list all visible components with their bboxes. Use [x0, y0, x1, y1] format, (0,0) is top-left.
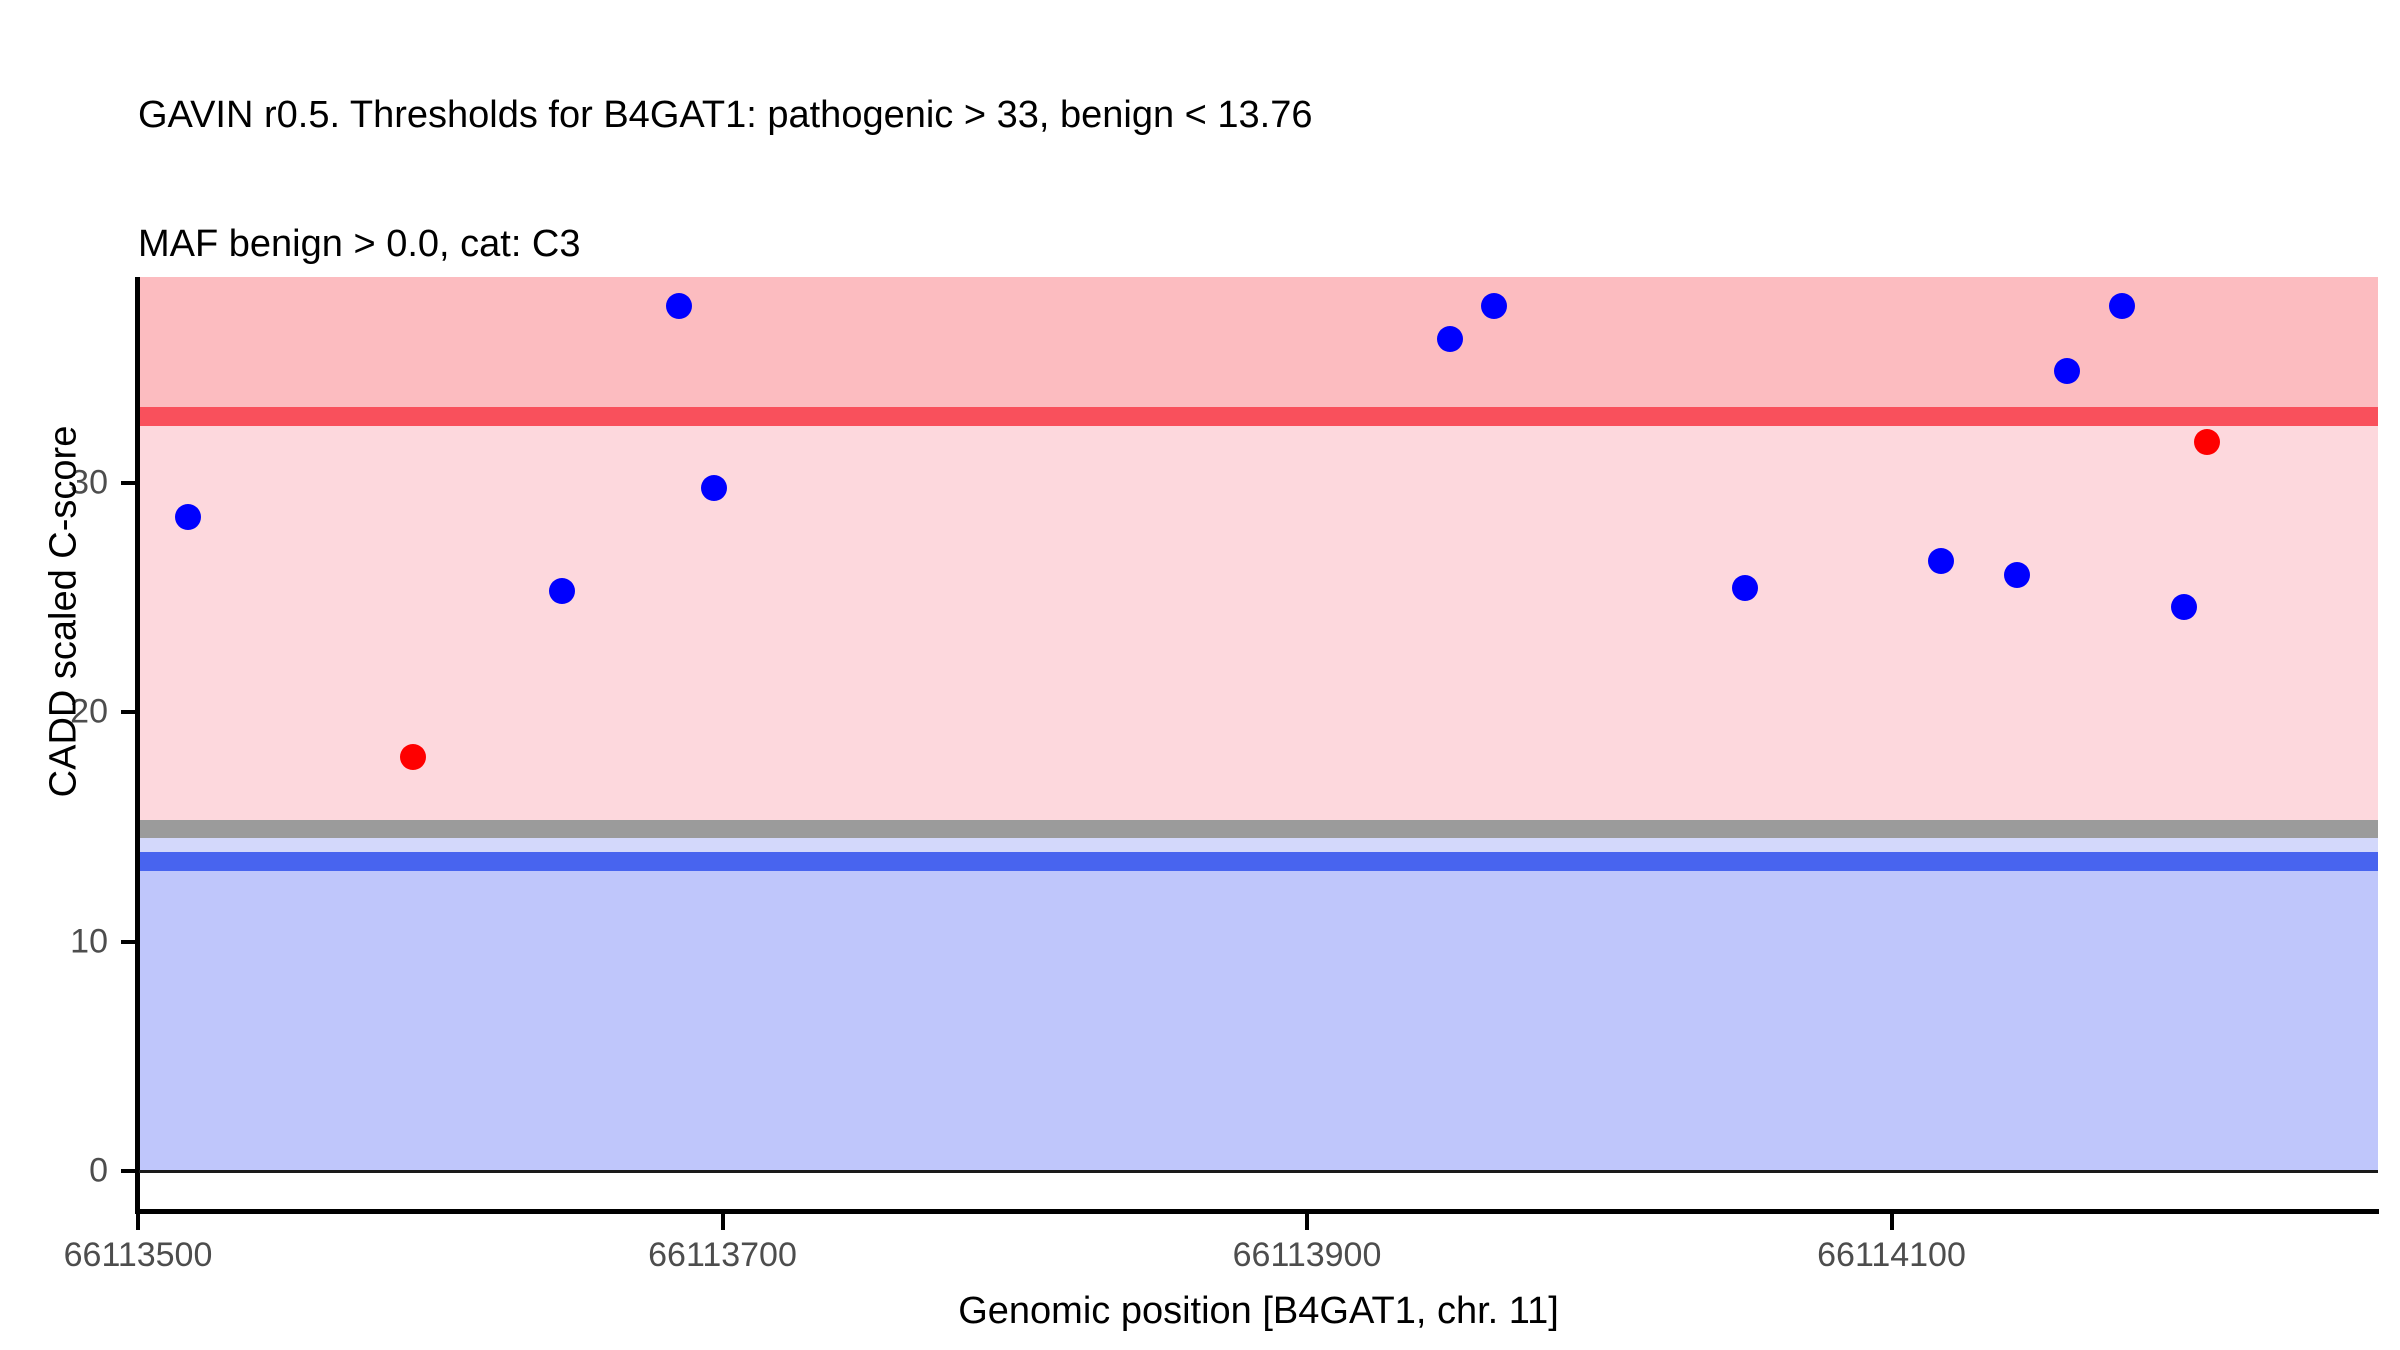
- title-line-1: GAVIN r0.5. Thresholds for B4GAT1: patho…: [138, 94, 2378, 137]
- band-benign-upper-light: [139, 838, 2378, 852]
- gnomad-point[interactable]: [2109, 293, 2135, 319]
- x-tick-mark: [1305, 1214, 1309, 1230]
- x-tick-mark: [136, 1214, 140, 1230]
- title-line-2: MAF benign > 0.0, cat: C3: [138, 223, 2378, 266]
- y-axis-title: CADD scaled C-score: [43, 182, 86, 1042]
- gnomad-point[interactable]: [1437, 326, 1463, 352]
- gnomad-point[interactable]: [175, 504, 201, 530]
- y-tick-mark: [121, 481, 135, 485]
- plot-area: [139, 277, 2378, 1213]
- y-tick-mark: [121, 1169, 135, 1173]
- gnomad-point[interactable]: [701, 475, 727, 501]
- x-axis-title: Genomic position [B4GAT1, chr. 11]: [139, 1290, 2378, 1333]
- pathogenic-point[interactable]: [2194, 429, 2220, 455]
- x-tick-mark: [721, 1214, 725, 1230]
- gnomad-point[interactable]: [1481, 293, 1507, 319]
- x-tick-label: 66113900: [1233, 1236, 1382, 1275]
- x-tick-label: 66114100: [1817, 1236, 1966, 1275]
- gnomad-point[interactable]: [2004, 562, 2030, 588]
- x-tick-label: 66113500: [64, 1236, 213, 1275]
- gnomad-point[interactable]: [666, 293, 692, 319]
- gnomad-point[interactable]: [549, 578, 575, 604]
- band-pathogenic-threshold-line: [139, 407, 2378, 425]
- band-pathogenic-zone: [139, 277, 2378, 407]
- band-benign-threshold-line: [139, 852, 2378, 870]
- gnomad-point[interactable]: [2054, 358, 2080, 384]
- y-tick-mark: [121, 710, 135, 714]
- band-genome-wide-fallback-grey: [139, 820, 2378, 838]
- baseline-zero-line: [139, 1170, 2378, 1173]
- band-benign-zone: [139, 871, 2378, 1171]
- plot-canvas: GAVIN r0.5. Thresholds for B4GAT1: patho…: [0, 0, 2400, 1350]
- y-tick-mark: [121, 940, 135, 944]
- band-vous-zone: [139, 426, 2378, 820]
- y-tick-label: 0: [0, 1152, 108, 1191]
- gnomad-point[interactable]: [2171, 594, 2197, 620]
- gnomad-point[interactable]: [1732, 575, 1758, 601]
- x-tick-label: 66113700: [648, 1236, 797, 1275]
- x-tick-mark: [1890, 1214, 1894, 1230]
- y-axis-line: [135, 277, 140, 1214]
- x-axis-line: [135, 1209, 2379, 1214]
- gnomad-point[interactable]: [1928, 548, 1954, 574]
- pathogenic-point[interactable]: [400, 744, 426, 770]
- plot-panel: [139, 277, 2378, 1213]
